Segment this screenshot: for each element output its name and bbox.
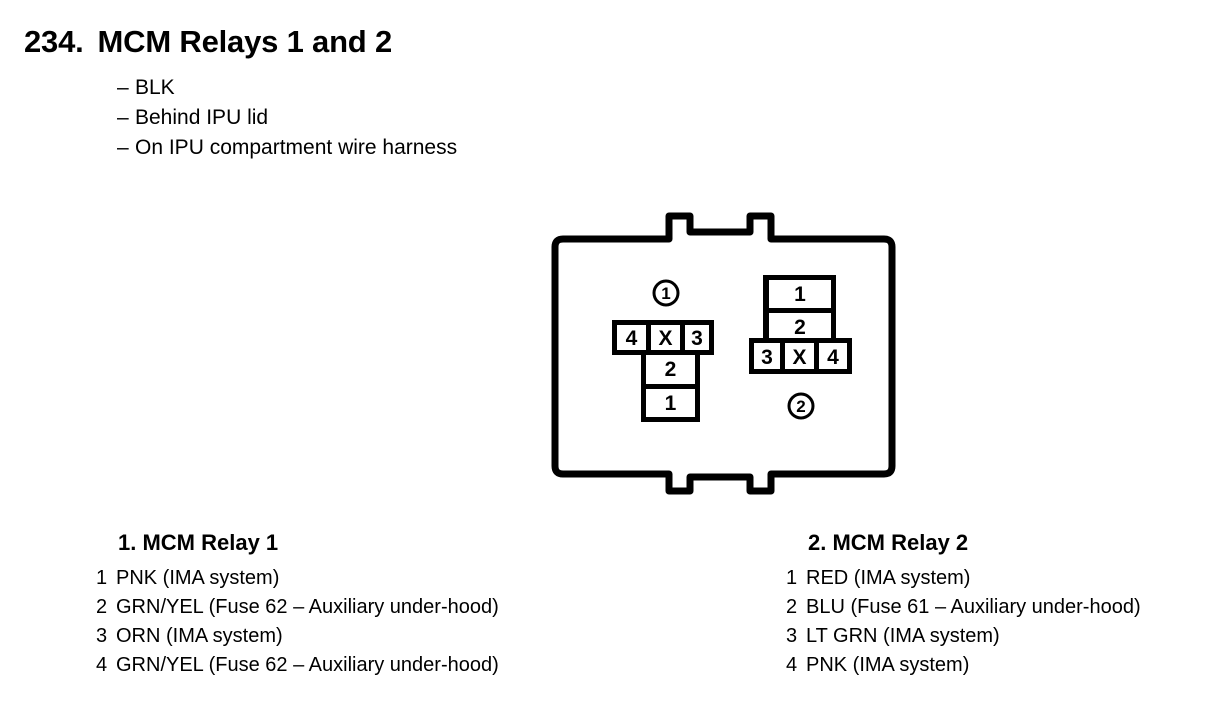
callout-marker-2: 2 — [789, 394, 813, 418]
terminal-label-x: X — [792, 346, 806, 369]
pin-number: 1 — [96, 567, 116, 590]
terminal-label-2: 2 — [794, 316, 806, 339]
relay-2-stack: 1 2 — [763, 275, 836, 345]
connector-diagram: 1 4 X 3 2 1 1 2 — [540, 195, 920, 495]
callout-marker-1: 1 — [654, 281, 678, 305]
pin-label: ORN (IMA system) — [116, 625, 283, 648]
pin-label: BLU (Fuse 61 – Auxiliary under-hood) — [806, 596, 1141, 619]
legend-row: 1 PNK (IMA system) — [96, 567, 499, 596]
legend-row: 4 PNK (IMA system) — [786, 654, 1141, 683]
pin-number: 2 — [96, 596, 116, 619]
terminal-label-x: X — [658, 327, 672, 350]
terminal-label-1: 1 — [665, 392, 677, 415]
pin-number: 2 — [786, 596, 806, 619]
relay-2-terminal-group: 1 2 3 X 4 2 — [749, 275, 852, 418]
dash-icon: – — [117, 136, 135, 160]
legend-heading: 2. MCM Relay 2 — [808, 530, 1141, 556]
terminal-label-3: 3 — [691, 327, 703, 350]
relay-1-stack: 2 1 — [641, 352, 700, 422]
pin-label: PNK (IMA system) — [806, 654, 969, 677]
legend-row: 3 LT GRN (IMA system) — [786, 625, 1141, 654]
terminal-label-4: 4 — [827, 346, 839, 369]
dash-icon: – — [117, 106, 135, 130]
legend-row: 1 RED (IMA system) — [786, 567, 1141, 596]
pin-number: 4 — [786, 654, 806, 677]
pin-label: LT GRN (IMA system) — [806, 625, 1000, 648]
bullet-item: – Behind IPU lid — [117, 106, 457, 136]
page-title: 234.MCM Relays 1 and 2 — [24, 24, 392, 60]
terminal-label-3: 3 — [761, 346, 773, 369]
section-number: 234. — [24, 24, 84, 59]
legend-row: 2 GRN/YEL (Fuse 62 – Auxiliary under-hoo… — [96, 596, 499, 625]
relay-2-bottom-row: 3 X 4 — [749, 338, 852, 374]
bullet-label: BLK — [135, 76, 175, 100]
pin-number: 3 — [786, 625, 806, 648]
legend-heading: 1. MCM Relay 1 — [118, 530, 499, 556]
pin-number: 4 — [96, 654, 116, 677]
dash-icon: – — [117, 76, 135, 100]
pin-label: PNK (IMA system) — [116, 567, 279, 590]
legend-row: 3 ORN (IMA system) — [96, 625, 499, 654]
bullet-item: – BLK — [117, 76, 457, 106]
callout-label: 1 — [661, 284, 670, 303]
bullet-label: Behind IPU lid — [135, 106, 268, 130]
pin-label: GRN/YEL (Fuse 62 – Auxiliary under-hood) — [116, 654, 499, 677]
pin-number: 1 — [786, 567, 806, 590]
pin-label: RED (IMA system) — [806, 567, 970, 590]
terminal-label-1: 1 — [794, 283, 806, 306]
legend-row: 4 GRN/YEL (Fuse 62 – Auxiliary under-hoo… — [96, 654, 499, 683]
legend-relay-1: 1. MCM Relay 1 1 PNK (IMA system) 2 GRN/… — [96, 530, 499, 683]
relay-1-terminal-group: 1 4 X 3 2 1 — [612, 281, 714, 422]
pin-label: GRN/YEL (Fuse 62 – Auxiliary under-hood) — [116, 596, 499, 619]
relay-1-top-row: 4 X 3 — [612, 320, 714, 355]
bullet-label: On IPU compartment wire harness — [135, 136, 457, 160]
section-title: MCM Relays 1 and 2 — [98, 24, 392, 59]
legend-relay-2: 2. MCM Relay 2 1 RED (IMA system) 2 BLU … — [786, 530, 1141, 683]
legend-row: 2 BLU (Fuse 61 – Auxiliary under-hood) — [786, 596, 1141, 625]
terminal-label-2: 2 — [665, 358, 677, 381]
callout-label: 2 — [796, 397, 805, 416]
description-bullet-list: – BLK – Behind IPU lid – On IPU compartm… — [117, 76, 457, 166]
pin-number: 3 — [96, 625, 116, 648]
terminal-label-4: 4 — [626, 327, 638, 350]
bullet-item: – On IPU compartment wire harness — [117, 136, 457, 166]
